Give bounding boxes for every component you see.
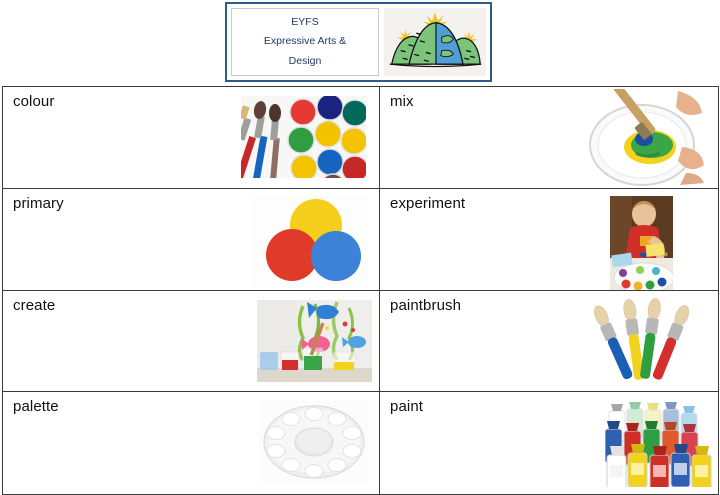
header-banner: EYFS Expressive Arts & Design bbox=[225, 2, 492, 82]
header-title-box: EYFS Expressive Arts & Design bbox=[231, 8, 379, 76]
paint-bottles-icon bbox=[605, 399, 712, 487]
hills-globe-drawing-icon bbox=[384, 8, 486, 76]
vocab-term: mix bbox=[390, 93, 414, 110]
hand-mixing-paint-image bbox=[586, 89, 704, 186]
vocab-cell-colour[interactable]: colour bbox=[3, 87, 380, 189]
paint-mixing-icon bbox=[586, 89, 704, 186]
palette-icon bbox=[259, 401, 369, 483]
vocab-cell-primary[interactable]: primary bbox=[3, 189, 380, 291]
vocab-cell-palette[interactable]: palette bbox=[3, 392, 380, 495]
child-painting-image bbox=[610, 196, 673, 290]
three-primary-circles-icon bbox=[253, 196, 368, 288]
vocabulary-table: colour bbox=[2, 86, 719, 495]
table-row: primary experiment bbox=[3, 189, 719, 291]
paintbrush-fan-icon bbox=[576, 298, 698, 384]
vocab-term: primary bbox=[13, 195, 64, 212]
table-row: colour bbox=[3, 87, 719, 189]
paint-bottles-image bbox=[605, 399, 712, 487]
vocab-cell-create[interactable]: create bbox=[3, 291, 380, 392]
vocab-term: create bbox=[13, 297, 55, 314]
vocab-cell-experiment[interactable]: experiment bbox=[380, 189, 719, 291]
four-paintbrushes-image bbox=[576, 298, 698, 384]
primary-colour-circles-image bbox=[253, 196, 368, 288]
paint-pots-and-brushes-image bbox=[241, 96, 366, 178]
vocab-term: colour bbox=[13, 93, 54, 110]
vocab-cell-paintbrush[interactable]: paintbrush bbox=[380, 291, 719, 392]
table-row: create bbox=[3, 291, 719, 392]
vocab-term: paint bbox=[390, 398, 423, 415]
header-line-2: Expressive Arts & bbox=[264, 32, 346, 51]
table-row: palette bbox=[3, 392, 719, 495]
vocab-term: palette bbox=[13, 398, 59, 415]
child-drawing-green-hills-blue-globe-image bbox=[384, 8, 486, 76]
vocab-term: paintbrush bbox=[390, 297, 461, 314]
vocab-cell-paint[interactable]: paint bbox=[380, 392, 719, 495]
header-line-1: EYFS bbox=[291, 13, 318, 32]
child-with-palette-icon bbox=[610, 196, 673, 290]
create-underwater-scene-icon bbox=[257, 300, 372, 382]
vocab-cell-mix[interactable]: mix bbox=[380, 87, 719, 189]
vocab-term: experiment bbox=[390, 195, 465, 212]
header-line-3: Design bbox=[289, 52, 322, 71]
white-palette-image bbox=[259, 401, 369, 483]
underwater-painting-image bbox=[257, 300, 372, 382]
paint-pots-icon bbox=[241, 96, 366, 178]
